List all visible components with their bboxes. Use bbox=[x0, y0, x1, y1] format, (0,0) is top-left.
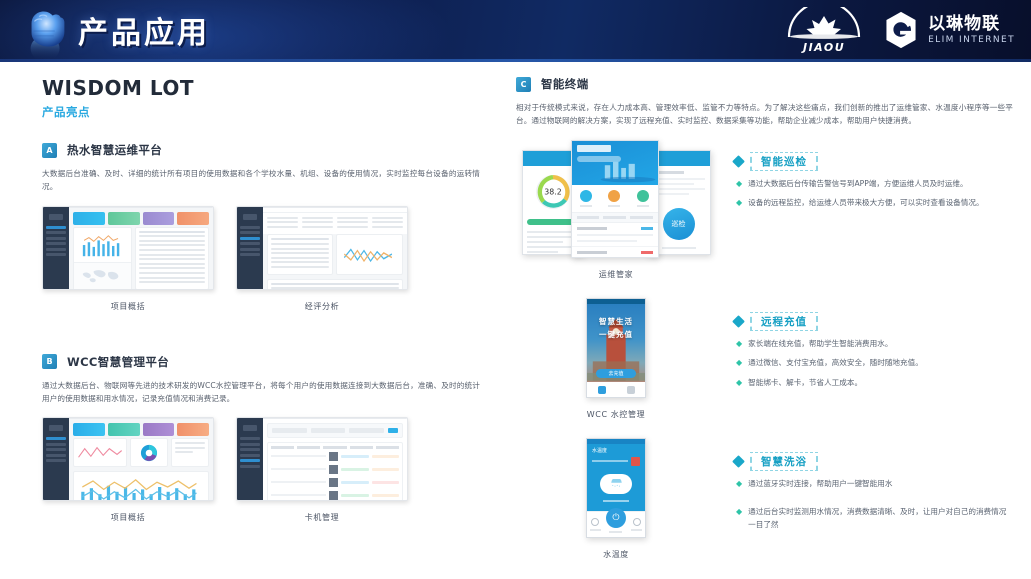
page-header: 产品应用 JIAOU 以琳物联 ELIM INTERNET bbox=[0, 0, 1031, 62]
bullet-text: 通过后台实时监测用水情况，消费数据清晰、及时，让用户对自己的消费情况一目了然 bbox=[748, 506, 1013, 532]
feature-row-bathing: 水温度 bbox=[516, 438, 1013, 560]
phone-app-title: 水温度 bbox=[587, 444, 645, 457]
bullet-text: 通过微信、支付宝充值，高效安全，随时随地充值。 bbox=[748, 357, 923, 370]
bullet-text: 通过蓝牙实时连接，帮助用户一键智能用水 bbox=[748, 478, 892, 491]
phone-headline-1: 智慧生活 bbox=[587, 316, 645, 327]
feature-bullets: ◆ 通过大数据后台传输告警信号到APP端，方便运维人员及时运维。 ◆ 设备的远程… bbox=[734, 178, 1013, 218]
mini-sidebar bbox=[237, 207, 263, 289]
screenshot-caption: 项目概括 bbox=[42, 301, 214, 312]
wisdom-lot-title: WISDOM LOT bbox=[42, 76, 480, 100]
feature-caption: 运维管家 bbox=[516, 269, 716, 280]
feature-caption: 水温度 bbox=[516, 549, 716, 560]
bullet-dot-icon: ◆ bbox=[736, 377, 742, 390]
feature-text: 远程充值 ◆ 家长端在线充值，帮助学生智能消费用水。 ◆ 通过微信、支付宝充值，… bbox=[734, 298, 1013, 398]
world-map-icon bbox=[78, 265, 127, 286]
feature-text: 智慧洗浴 ◆ 通过蓝牙实时连接，帮助用户一键智能用水 ◆ 通过后台实时监测用水情… bbox=[734, 438, 1013, 540]
mini-sidebar bbox=[43, 207, 69, 289]
section-a: A 热水智慧运维平台 大数据后台准确、及时、详细的统计所有项目的使用数据和各个学… bbox=[42, 142, 480, 312]
phone-water-temperature[interactable]: 水温度 bbox=[586, 438, 646, 538]
svg-text:38.2: 38.2 bbox=[544, 187, 561, 196]
logo-group: JIAOU 以琳物联 ELIM INTERNET bbox=[783, 7, 1015, 53]
section-b-badge: B bbox=[42, 354, 57, 369]
section-c-badge: C bbox=[516, 77, 531, 92]
page-title: 产品应用 bbox=[78, 8, 210, 52]
bullet-dot-icon: ◆ bbox=[736, 478, 742, 491]
bullet-item: ◆ 通过大数据后台传输告警信号到APP端，方便运维人员及时运维。 bbox=[736, 178, 1013, 191]
jiaou-logo-text: JIAOU bbox=[783, 41, 865, 54]
feature-text: 智能巡检 ◆ 通过大数据后台传输告警信号到APP端，方便运维人员及时运维。 ◆ … bbox=[734, 138, 1013, 218]
phone-ops-butler[interactable] bbox=[571, 140, 659, 258]
bullet-item: ◆ 智能绑卡、解卡，节省人工成本。 bbox=[736, 377, 1013, 390]
section-a-screenshots: 项目概括 bbox=[42, 206, 480, 312]
phone-headline-2: 一键充值 bbox=[587, 329, 645, 340]
fist-icon bbox=[18, 2, 76, 62]
dashboard-screenshot-overview[interactable] bbox=[42, 206, 214, 290]
bullet-dot-icon: ◆ bbox=[736, 197, 742, 210]
screenshot-item[interactable]: 项目概括 bbox=[42, 206, 214, 312]
bullet-text: 家长端在线充值，帮助学生智能消费用水。 bbox=[748, 338, 892, 351]
bullet-item: ◆ 设备的远程监控，给运维人员带来极大方便，可以实时查看设备情况。 bbox=[736, 197, 1013, 210]
bullet-dot-icon: ◆ bbox=[736, 178, 742, 191]
left-column: WISDOM LOT 产品亮点 A 热水智慧运维平台 大数据后台准确、及时、详细… bbox=[18, 76, 488, 579]
section-c-paragraph: 相对于传统模式来说，存在人力成本高、管理效率低、监管不力等特点。为了解决这些痛点… bbox=[516, 101, 1013, 128]
bullet-text: 通过大数据后台传输告警信号到APP端，方便运维人员及时运维。 bbox=[748, 178, 967, 191]
section-a-paragraph: 大数据后台准确、及时、详细的统计所有项目的使用数据和各个学校水量、机组、设备的使… bbox=[42, 167, 480, 194]
mini-sidebar bbox=[43, 418, 69, 500]
diamond-icon bbox=[732, 155, 745, 168]
bullet-item: ◆ 家长端在线充值，帮助学生智能消费用水。 bbox=[736, 338, 1013, 351]
section-c-head: C 智能终端 bbox=[516, 76, 1013, 92]
screenshot-caption: 项目概括 bbox=[42, 512, 214, 523]
feature-media: 38.2 bbox=[516, 138, 716, 280]
isometric-city-icon bbox=[598, 155, 658, 185]
feature-label-recharge: 远程充值 bbox=[750, 312, 818, 331]
wcc-screenshot-overview[interactable] bbox=[42, 417, 214, 501]
feature-media: 智慧生活 一键充值 去充值 WCC 水控管理 bbox=[516, 298, 716, 420]
right-column: C 智能终端 相对于传统模式来说，存在人力成本高、管理效率低、监管不力等特点。为… bbox=[488, 76, 1013, 579]
section-b-screenshots: 项目概括 bbox=[42, 417, 480, 523]
temperature-gauge-icon: 38.2 bbox=[533, 172, 573, 212]
section-c-title: 智能终端 bbox=[541, 76, 589, 92]
elim-logo: 以琳物联 ELIM INTERNET bbox=[881, 10, 1015, 50]
feature-bullets: ◆ 通过蓝牙实时连接，帮助用户一键智能用水 ◆ 通过后台实时监测用水情况，消费数… bbox=[734, 478, 1013, 540]
mini-sidebar bbox=[237, 418, 263, 500]
elim-mark-icon bbox=[881, 10, 921, 50]
dashboard-screenshot-analysis[interactable] bbox=[236, 206, 408, 290]
bullet-text: 智能绑卡、解卡，节省人工成本。 bbox=[748, 377, 862, 390]
diamond-icon bbox=[732, 455, 745, 468]
poster-page: 产品应用 JIAOU 以琳物联 ELIM INTERNET bbox=[0, 0, 1031, 579]
feature-bullets: ◆ 家长端在线充值，帮助学生智能消费用水。 ◆ 通过微信、支付宝充值，高效安全，… bbox=[734, 338, 1013, 398]
wisdom-lot-subtitle: 产品亮点 bbox=[42, 104, 480, 120]
screenshot-caption: 卡机管理 bbox=[236, 512, 408, 523]
screenshot-caption: 经评分析 bbox=[236, 301, 408, 312]
section-b-paragraph: 通过大数据后台、物联网等先进的技术研发的WCC水控管理平台，将每个用户的使用数据… bbox=[42, 379, 480, 406]
bullet-item: ◆ 通过微信、支付宝充值，高效安全，随时随地充值。 bbox=[736, 357, 1013, 370]
feature-label-bathing: 智慧洗浴 bbox=[750, 452, 818, 471]
bullet-item: ◆ 通过蓝牙实时连接，帮助用户一键智能用水 bbox=[736, 478, 1013, 491]
diamond-icon bbox=[732, 315, 745, 328]
shower-head-icon bbox=[609, 479, 624, 488]
section-b-title: WCC智慧管理平台 bbox=[67, 354, 169, 370]
bullet-item: ◆ 通过后台实时监测用水情况，消费数据清晰、及时，让用户对自己的消费情况一目了然 bbox=[736, 506, 1013, 532]
feature-row-inspection: 38.2 bbox=[516, 138, 1013, 280]
screenshot-item[interactable]: 经评分析 bbox=[236, 206, 408, 312]
phone-recharge-cta[interactable]: 去充值 bbox=[596, 369, 636, 378]
feature-media: 水温度 bbox=[516, 438, 716, 560]
bullet-dot-icon: ◆ bbox=[736, 506, 742, 532]
page-body: WISDOM LOT 产品亮点 A 热水智慧运维平台 大数据后台准确、及时、详细… bbox=[0, 62, 1031, 579]
inspection-button[interactable]: 巡检 bbox=[663, 208, 695, 240]
feature-caption: WCC 水控管理 bbox=[516, 409, 716, 420]
bullet-dot-icon: ◆ bbox=[736, 357, 742, 370]
section-b: B WCC智慧管理平台 通过大数据后台、物联网等先进的技术研发的WCC水控管理平… bbox=[42, 354, 480, 524]
elim-logo-en: ELIM INTERNET bbox=[928, 36, 1015, 45]
feature-label-inspection: 智能巡检 bbox=[750, 152, 818, 171]
bullet-dot-icon: ◆ bbox=[736, 338, 742, 351]
bullet-text: 设备的远程监控，给运维人员带来极大方便，可以实时查看设备情况。 bbox=[748, 197, 983, 210]
pie-chart-icon bbox=[138, 442, 160, 464]
jiaou-logo: JIAOU bbox=[783, 7, 865, 53]
feature-row-recharge: 智慧生活 一键充值 去充值 WCC 水控管理 bbox=[516, 298, 1013, 420]
screenshot-item[interactable]: 卡机管理 bbox=[236, 417, 408, 523]
section-a-badge: A bbox=[42, 143, 57, 158]
phone-group-ops-butler: 38.2 bbox=[519, 140, 714, 258]
wcc-screenshot-card-management[interactable] bbox=[236, 417, 408, 501]
screenshot-item[interactable]: 项目概括 bbox=[42, 417, 214, 523]
section-a-title: 热水智慧运维平台 bbox=[67, 142, 162, 158]
phone-wcc-recharge[interactable]: 智慧生活 一键充值 去充值 bbox=[586, 298, 646, 398]
elim-logo-cn: 以琳物联 bbox=[928, 16, 1015, 33]
